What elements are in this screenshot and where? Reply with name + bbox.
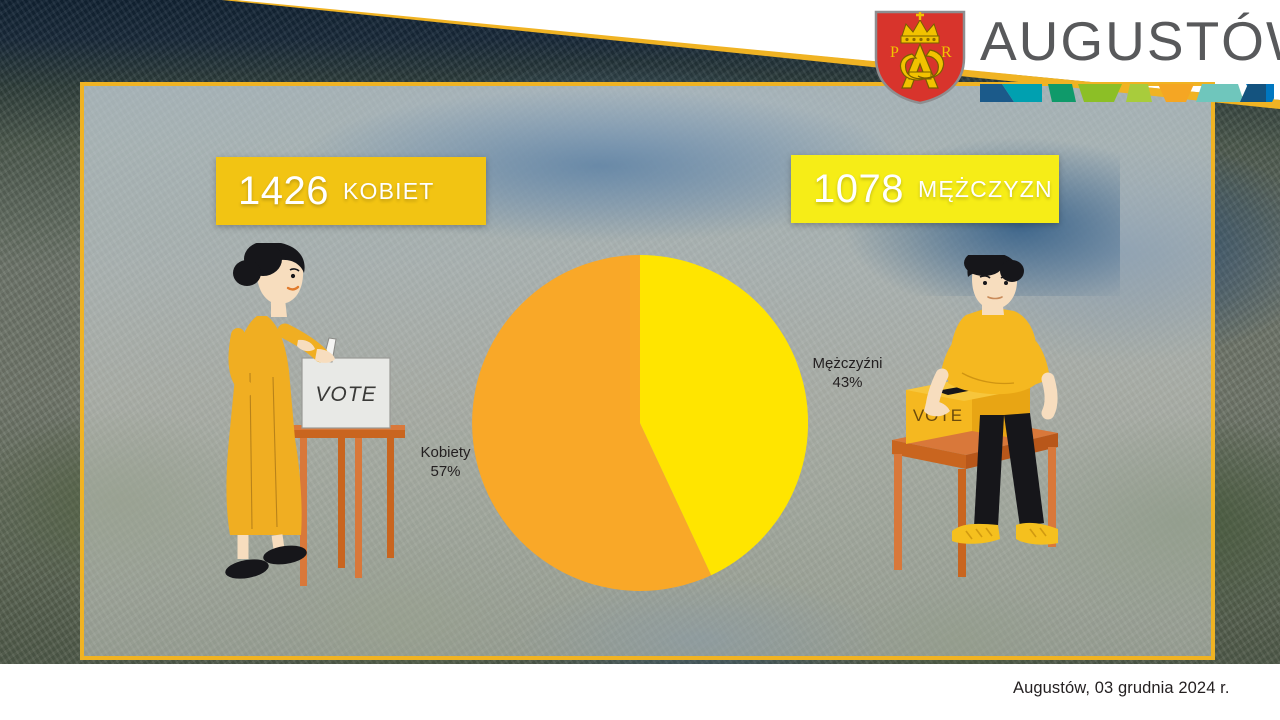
gender-pie-chart <box>472 255 808 591</box>
chevron-3 <box>1048 84 1076 102</box>
stat-women-label: KOBIET <box>343 178 435 205</box>
augustow-logo: P R AUGUSTÓW <box>868 6 1274 110</box>
chevron-9 <box>1240 84 1266 102</box>
stat-women-number: 1426 <box>238 171 329 211</box>
man-voting-illustration: VOTE <box>880 255 1080 585</box>
pie-label-mezczyzni-name: Mężczyźni <box>805 355 890 374</box>
brand-chevron-band <box>980 82 1274 106</box>
pie-label-mezczyzni-value: 43% <box>805 374 890 393</box>
chevron-7 <box>1196 84 1244 102</box>
chevron-5 <box>1126 84 1152 102</box>
pie-label-kobiety-name: Kobiety <box>408 444 483 463</box>
stat-men-label: MĘŻCZYZN <box>918 176 1053 203</box>
svg-text:P: P <box>890 44 899 61</box>
stat-men-number: 1078 <box>813 169 904 209</box>
pie-label-kobiety-value: 57% <box>408 463 483 482</box>
stat-badge-women: 1426 KOBIET <box>216 157 486 225</box>
infographic-canvas: VOTE <box>0 0 1280 720</box>
coat-of-arms-icon: P R <box>868 6 972 106</box>
chevron-6 <box>1158 84 1194 102</box>
footer-caption: Augustów, 03 grudnia 2024 r. <box>1013 679 1230 698</box>
pie-label-mezczyzni: Mężczyźni 43% <box>805 355 890 393</box>
pie-label-kobiety: Kobiety 57% <box>408 444 483 482</box>
woman-voting-illustration: VOTE <box>205 243 405 588</box>
svg-text:VOTE: VOTE <box>315 383 376 406</box>
stat-badge-men: 1078 MĘŻCZYZN <box>791 155 1059 223</box>
brand-name: AUGUSTÓW <box>980 14 1280 69</box>
chevron-4 <box>1078 84 1122 102</box>
